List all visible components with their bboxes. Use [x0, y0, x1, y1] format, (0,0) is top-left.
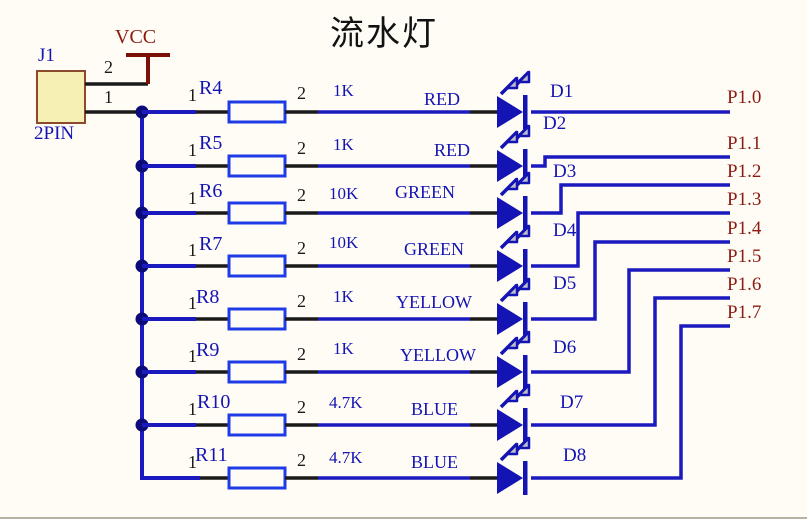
- resistor-value-r8: 1K: [333, 288, 354, 305]
- port-label-p1-1: P1.1: [727, 134, 761, 153]
- page-title: 流水灯: [330, 6, 438, 55]
- port-label-p1-4: P1.4: [727, 219, 761, 238]
- connector-pin-2-number: 2: [104, 58, 113, 76]
- port-label-p1-3: P1.3: [727, 190, 761, 209]
- led-color-d7: BLUE: [411, 400, 458, 418]
- resistor-pin1-number-r10: 1: [188, 400, 197, 418]
- led-refdes-d1: D1: [550, 82, 573, 101]
- port-label-p1-2: P1.2: [727, 162, 761, 181]
- connector-body: [37, 71, 85, 123]
- resistor-pin2-number-r8: 2: [297, 292, 306, 310]
- resistor-pin2-number-r7: 2: [297, 239, 306, 257]
- port-label-p1-6: P1.6: [727, 275, 761, 294]
- resistor-pin2-number-r5: 2: [297, 139, 306, 157]
- connector-pin-1-number: 1: [104, 88, 113, 106]
- vcc-label: VCC: [115, 27, 156, 47]
- resistor-value-r10: 4.7K: [329, 394, 363, 411]
- resistor-value-r6: 10K: [329, 185, 358, 202]
- led-refdes-d6: D6: [553, 338, 576, 357]
- resistor-pin1-number-r6: 1: [188, 189, 197, 207]
- led-color-d6: YELLOW: [400, 346, 476, 364]
- resistor-refdes-r10: R10: [197, 392, 230, 412]
- resistor-pin2-number-r6: 2: [297, 186, 306, 204]
- resistor-pin2-number-r9: 2: [297, 345, 306, 363]
- connector-refdes: J1: [38, 46, 55, 65]
- resistor-value-r9: 1K: [333, 340, 354, 357]
- led-refdes-d2: D2: [543, 114, 566, 133]
- resistor-refdes-r11: R11: [195, 445, 228, 465]
- port-label-p1-7: P1.7: [727, 303, 761, 322]
- resistor-value-r7: 10K: [329, 234, 358, 251]
- resistor-value-r4: 1K: [333, 82, 354, 99]
- resistor-value-r5: 1K: [333, 136, 354, 153]
- resistor-refdes-r5: R5: [199, 133, 222, 153]
- led-color-d2: RED: [434, 141, 470, 159]
- led-refdes-d3: D3: [553, 162, 576, 181]
- led-color-d8: BLUE: [411, 453, 458, 471]
- led-color-d5: YELLOW: [396, 293, 472, 311]
- port-wire-p1-2: [531, 185, 730, 213]
- resistor-pin2-number-r4: 2: [297, 84, 306, 102]
- led-refdes-d5: D5: [553, 274, 576, 293]
- led-refdes-d4: D4: [553, 221, 576, 240]
- resistor-pin1-number-r4: 1: [188, 86, 197, 104]
- led-color-d1: RED: [424, 90, 460, 108]
- resistor-value-r11: 4.7K: [329, 449, 363, 466]
- resistor-pin2-number-r10: 2: [297, 398, 306, 416]
- led-color-d4: GREEN: [404, 240, 464, 258]
- led-refdes-d8: D8: [563, 446, 586, 465]
- led-refdes-d7: D7: [560, 393, 583, 412]
- resistor-pin1-number-r5: 1: [188, 141, 197, 159]
- resistor-refdes-r9: R9: [196, 340, 219, 360]
- resistor-refdes-r8: R8: [196, 287, 219, 307]
- resistor-pin1-number-r7: 1: [188, 241, 197, 259]
- connector-footprint: 2PIN: [34, 124, 74, 143]
- resistor-refdes-r7: R7: [199, 234, 222, 254]
- resistor-pin2-number-r11: 2: [297, 451, 306, 469]
- port-label-p1-5: P1.5: [727, 247, 761, 266]
- resistor-refdes-r6: R6: [199, 181, 222, 201]
- net-row-8: [200, 438, 529, 495]
- led-color-d3: GREEN: [395, 183, 455, 201]
- port-label-p1-0: P1.0: [727, 88, 761, 107]
- schematic-canvas: 流水灯 J1 2PIN 2 1 VCC 1 R4 2 1K RED D1 P1.…: [0, 0, 807, 519]
- vcc-symbol: [126, 55, 170, 84]
- resistor-refdes-r4: R4: [199, 78, 222, 98]
